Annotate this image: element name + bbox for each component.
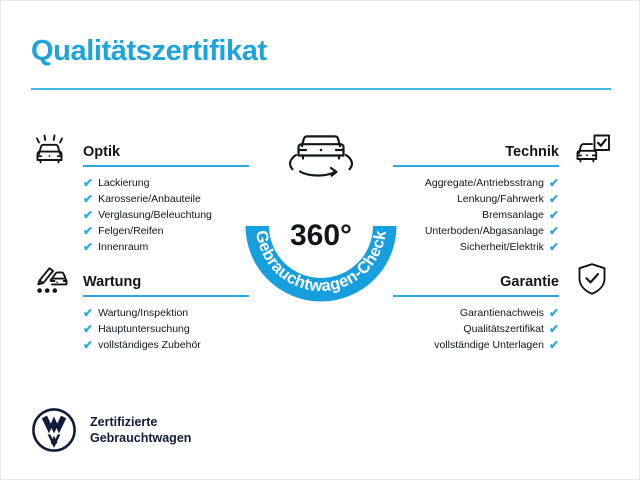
car-checkbox-icon [569, 129, 615, 169]
check-icon: ✔ [83, 225, 93, 237]
check-icon: ✔ [549, 241, 559, 253]
section-title-wartung: Wartung [83, 274, 141, 290]
section-header-technik: Technik [393, 129, 615, 169]
list-item-label: Felgen/Reifen [98, 223, 163, 239]
list-item: vollständige Unterlagen✔ [393, 337, 615, 353]
list-item: Lenkung/Fahrwerk✔ [393, 191, 615, 207]
check-icon: ✔ [549, 307, 559, 319]
footer-line-2: Gebrauchtwagen [90, 430, 191, 446]
section-header-garantie: Garantie [393, 259, 615, 299]
check-icon: ✔ [83, 177, 93, 189]
footer-brand-text: Zertifizierte Gebrauchtwagen [90, 414, 191, 446]
check-icon: ✔ [83, 323, 93, 335]
list-item: Aggregate/Antriebsstrang✔ [393, 175, 615, 191]
badge-360-gebrauchtwagen-check: 360° Gebrauchtwagen-Check [234, 119, 408, 305]
list-item: Qualitätszertifikat✔ [393, 321, 615, 337]
list-item-label: Wartung/Inspektion [98, 305, 188, 321]
footer-line-1: Zertifizierte [90, 414, 191, 430]
section-underline-optik [83, 165, 249, 167]
car-shine-icon [27, 129, 73, 169]
section-underline-garantie [393, 295, 559, 297]
shield-check-icon [569, 259, 615, 299]
list-item: ✔Verglasung/Beleuchtung [27, 207, 249, 223]
list-item: ✔Wartung/Inspektion [27, 305, 249, 321]
section-optik: Optik ✔Lackierung ✔Karosserie/Anbauteile… [27, 129, 249, 255]
list-item-label: Aggregate/Antriebsstrang [425, 175, 544, 191]
section-wartung: Wartung ✔Wartung/Inspektion ✔Hauptunters… [27, 259, 249, 353]
certificate-page: Qualitätszertifikat Optik [0, 0, 640, 480]
list-item-label: Hauptuntersuchung [98, 321, 190, 337]
footer-brand: Zertifizierte Gebrauchtwagen [31, 407, 191, 453]
check-icon: ✔ [83, 193, 93, 205]
list-item: ✔Hauptuntersuchung [27, 321, 249, 337]
check-icon: ✔ [83, 339, 93, 351]
list-item: ✔Innenraum [27, 239, 249, 255]
check-icon: ✔ [83, 209, 93, 221]
checklist-wartung: ✔Wartung/Inspektion ✔Hauptuntersuchung ✔… [27, 299, 249, 353]
badge-center-label: 360° [290, 219, 352, 252]
list-item-label: vollständiges Zubehör [98, 337, 201, 353]
list-item-label: Garantienachweis [460, 305, 544, 321]
list-item: Bremsanlage✔ [393, 207, 615, 223]
check-icon: ✔ [549, 177, 559, 189]
list-item: Sicherheit/Elektrik✔ [393, 239, 615, 255]
section-header-wartung: Wartung [27, 259, 249, 299]
section-garantie: Garantie Garantienachweis✔ Qualitätszert… [393, 259, 615, 353]
list-item-label: Verglasung/Beleuchtung [98, 207, 212, 223]
list-item: Unterboden/Abgasanlage✔ [393, 223, 615, 239]
check-icon: ✔ [549, 209, 559, 221]
list-item-label: vollständige Unterlagen [434, 337, 544, 353]
list-item-label: Qualitätszertifikat [463, 321, 544, 337]
check-icon: ✔ [549, 225, 559, 237]
list-item-label: Sicherheit/Elektrik [460, 239, 544, 255]
car-service-pen-icon [27, 259, 73, 299]
list-item-label: Karosserie/Anbauteile [98, 191, 201, 207]
check-icon: ✔ [549, 193, 559, 205]
check-icon: ✔ [549, 323, 559, 335]
list-item: Garantienachweis✔ [393, 305, 615, 321]
list-item-label: Lenkung/Fahrwerk [457, 191, 544, 207]
vw-roundel-logo [31, 407, 77, 453]
section-header-optik: Optik [27, 129, 249, 169]
page-title: Qualitätszertifikat [31, 35, 267, 68]
title-divider [31, 88, 611, 90]
check-icon: ✔ [83, 307, 93, 319]
section-title-garantie: Garantie [500, 274, 559, 290]
car-rotate-360-icon [290, 136, 352, 175]
section-title-technik: Technik [505, 144, 559, 160]
checklist-garantie: Garantienachweis✔ Qualitätszertifikat✔ v… [393, 299, 615, 353]
list-item-label: Unterboden/Abgasanlage [425, 223, 544, 239]
section-underline-technik [393, 165, 559, 167]
check-icon: ✔ [549, 339, 559, 351]
list-item-label: Lackierung [98, 175, 149, 191]
list-item-label: Innenraum [98, 239, 148, 255]
section-technik: Technik Aggregate/Antriebsstrang✔ Lenkun… [393, 129, 615, 255]
checklist-technik: Aggregate/Antriebsstrang✔ Lenkung/Fahrwe… [393, 169, 615, 255]
check-icon: ✔ [83, 241, 93, 253]
list-item-label: Bremsanlage [482, 207, 544, 223]
section-underline-wartung [83, 295, 249, 297]
section-title-optik: Optik [83, 144, 120, 160]
list-item: ✔Lackierung [27, 175, 249, 191]
checklist-optik: ✔Lackierung ✔Karosserie/Anbauteile ✔Verg… [27, 169, 249, 255]
list-item: ✔vollständiges Zubehör [27, 337, 249, 353]
list-item: ✔Karosserie/Anbauteile [27, 191, 249, 207]
list-item: ✔Felgen/Reifen [27, 223, 249, 239]
